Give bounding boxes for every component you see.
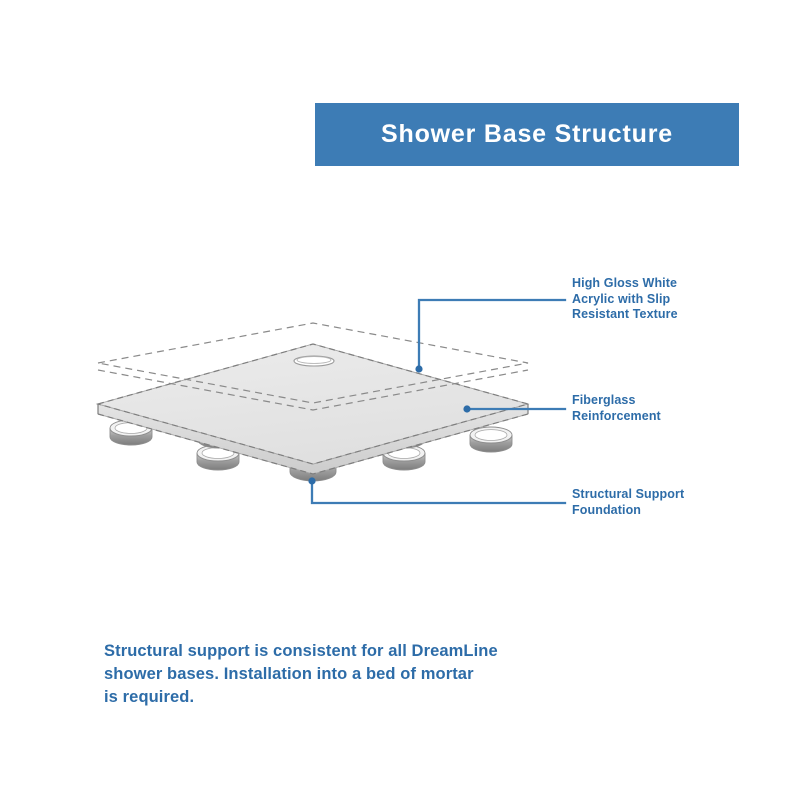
footer-note: Structural support is consistent for all… [104, 640, 534, 709]
leader-dot-acrylic [415, 365, 422, 372]
footer-note-line-3: is required. [104, 686, 534, 709]
support-ring [470, 427, 512, 452]
callout-acrylic-line-2: Acrylic with Slip [572, 292, 678, 308]
infographic-page: Shower Base Structure High Gloss White A… [0, 0, 806, 806]
leader-dot-support [308, 477, 315, 484]
callout-label-acrylic: High Gloss White Acrylic with Slip Resis… [572, 276, 678, 323]
callout-fiberglass-line-2: Reinforcement [572, 409, 661, 425]
title-banner: Shower Base Structure [315, 103, 739, 166]
callout-label-support: Structural Support Foundation [572, 487, 684, 518]
drain-opening [294, 356, 334, 366]
page-title: Shower Base Structure [381, 122, 673, 147]
callout-acrylic-line-1: High Gloss White [572, 276, 678, 292]
callout-support-line-2: Foundation [572, 503, 684, 519]
leader-dot-fiberglass [463, 405, 470, 412]
footer-note-line-1: Structural support is consistent for all… [104, 640, 534, 663]
callout-label-fiberglass: Fiberglass Reinforcement [572, 393, 661, 424]
callout-fiberglass-line-1: Fiberglass [572, 393, 661, 409]
callout-support-line-1: Structural Support [572, 487, 684, 503]
footer-note-line-2: shower bases. Installation into a bed of… [104, 663, 534, 686]
callout-acrylic-line-3: Resistant Texture [572, 307, 678, 323]
